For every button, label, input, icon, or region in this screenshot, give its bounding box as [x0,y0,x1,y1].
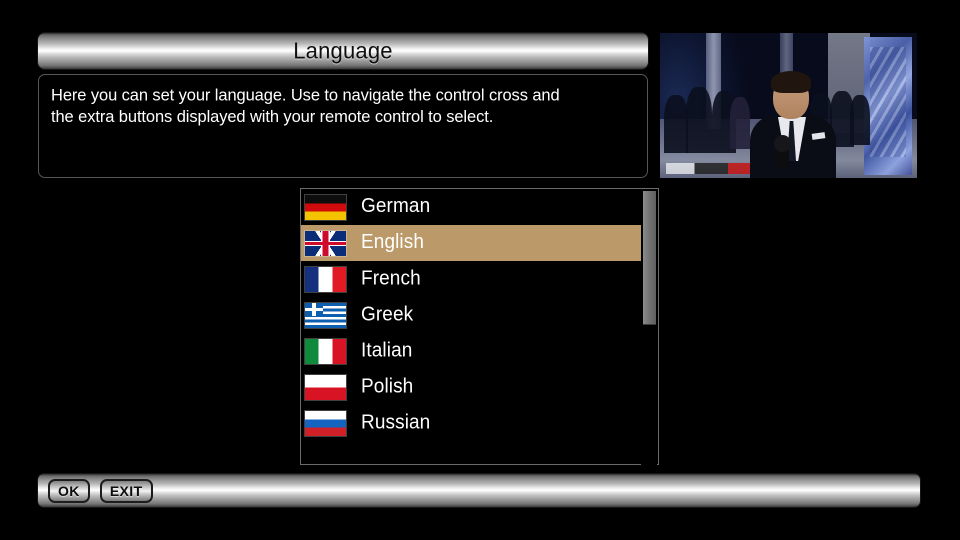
preview-crowd-figure [730,97,750,149]
live-tv-preview[interactable] [660,33,917,178]
flag-italy-icon [305,339,346,364]
exit-button-label: EXIT [110,483,143,499]
list-item[interactable]: French [301,261,641,297]
help-text: Here you can set your language. Use to n… [51,85,635,128]
tv-settings-screen: Language Here you can set your language.… [0,0,960,540]
list-item-label: French [361,267,421,290]
list-item[interactable]: German [301,189,641,225]
window-title-bar: Language [38,33,648,69]
list-item-label: Greek [361,303,413,326]
flag-russia-icon [305,411,346,436]
scrollbar-track[interactable] [641,190,657,465]
flag-greece-icon [305,303,346,328]
language-list-panel[interactable]: German English French Greek Italian Poli [300,188,659,465]
list-item[interactable]: Polish [301,369,641,405]
help-text-panel: Here you can set your language. Use to n… [38,74,648,178]
flag-germany-icon [305,195,346,220]
list-item-label: Italian [361,339,412,362]
flag-poland-icon [305,375,346,400]
page-title: Language [293,37,392,65]
flag-france-icon [305,267,346,292]
list-item-label: German [361,195,430,218]
ok-button-label: OK [58,483,80,499]
bottom-action-bar: OK EXIT [38,474,920,507]
preview-crowd-figure [850,95,870,145]
preview-reporter-hair [771,71,811,93]
preview-backdrop-art-pattern [870,47,906,157]
list-item-label: Polish [361,375,413,398]
ok-button[interactable]: OK [48,479,90,503]
list-item[interactable]: Greek [301,297,641,333]
list-item[interactable]: Italian [301,333,641,369]
language-list: German English French Greek Italian Poli [301,189,641,464]
list-item-label: Russian [361,411,430,434]
channel-logo-bug [666,163,750,174]
list-item[interactable]: Russian [301,405,641,441]
exit-button[interactable]: EXIT [100,479,153,503]
preview-crowd-figure [664,95,688,153]
list-item-label: English [361,231,424,254]
preview-crowd-figure [686,87,712,153]
flag-united-kingdom-icon [305,231,346,256]
list-item[interactable]: English [301,225,641,261]
scrollbar-thumb[interactable] [643,191,656,325]
preview-microphone-head [774,135,791,152]
